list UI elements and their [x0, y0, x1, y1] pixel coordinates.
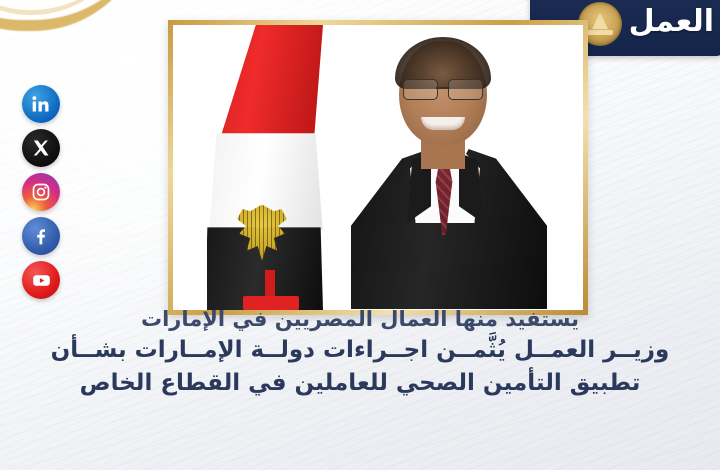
lens-left: [403, 79, 438, 100]
portrait-photo: [173, 25, 583, 310]
news-poster: العمل: [0, 0, 720, 470]
linkedin-icon[interactable]: [22, 85, 60, 123]
smile: [421, 117, 465, 130]
ministry-logo-label: العمل: [629, 4, 714, 39]
headline-line-3: تطبيق التأمين الصحي للعاملين في القطاع ا…: [14, 369, 706, 399]
youtube-icon[interactable]: [22, 261, 60, 299]
egypt-flag: [207, 25, 327, 310]
portrait-photo-frame: [168, 20, 588, 315]
eyeglasses-icon: [403, 79, 483, 99]
headline-line-1: يستفيد منها العمال المصريين في الإمارات: [14, 306, 706, 333]
instagram-icon[interactable]: [22, 173, 60, 211]
minister-portrait: [343, 25, 561, 310]
flag-red-stripe: [211, 25, 323, 139]
social-media-rail: [22, 85, 60, 299]
facebook-icon[interactable]: [22, 217, 60, 255]
headline-block: يستفيد منها العمال المصريين في الإمارات …: [0, 306, 720, 399]
headline-line-2: وزيــر العمــل يُثَّمــن اجــراءات دولــ…: [14, 336, 706, 366]
x-twitter-icon[interactable]: [22, 129, 60, 167]
lens-right: [448, 79, 483, 100]
